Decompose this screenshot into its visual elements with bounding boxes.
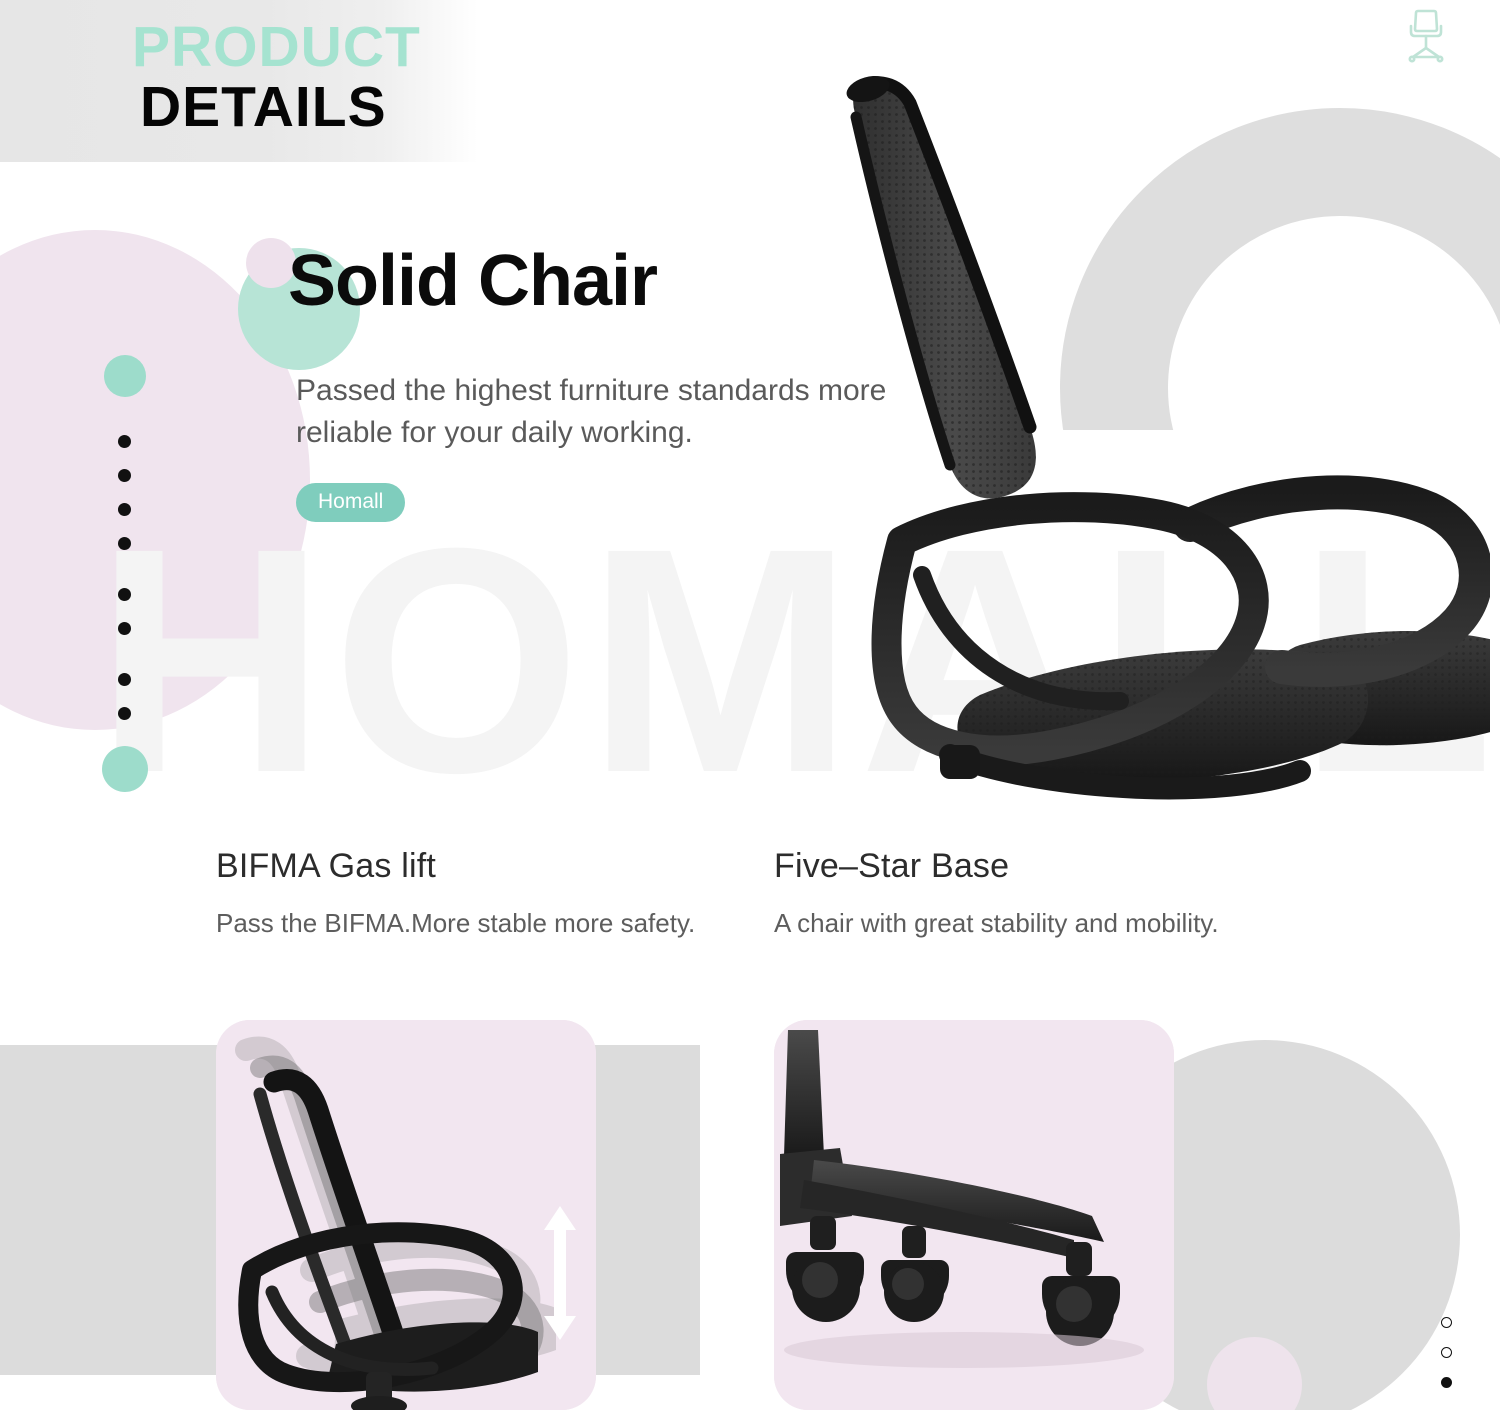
feature-title: BIFMA Gas lift bbox=[216, 845, 736, 888]
rail-dot bbox=[118, 537, 131, 550]
decorative-dot-rail bbox=[100, 355, 160, 792]
hero-chair-image bbox=[830, 55, 1490, 835]
feature-description: Pass the BIFMA.More stable more safety. bbox=[216, 906, 736, 941]
header-line-product: PRODUCT bbox=[132, 18, 421, 78]
feature-image-gas-lift bbox=[216, 1020, 596, 1410]
rail-dot bbox=[118, 469, 131, 482]
feature-image-five-star-base bbox=[774, 1020, 1174, 1410]
page-header: PRODUCT DETAILS bbox=[132, 18, 421, 138]
rail-mint-circle-bottom bbox=[102, 746, 148, 792]
feature-description: A chair with great stability and mobilit… bbox=[774, 906, 1294, 941]
rail-dot bbox=[118, 707, 131, 720]
rail-dot bbox=[118, 588, 131, 601]
feature-five-star-base: Five–Star Base A chair with great stabil… bbox=[774, 845, 1294, 940]
feature-gas-lift: BIFMA Gas lift Pass the BIFMA.More stabl… bbox=[216, 845, 736, 940]
brand-badge: Homall bbox=[296, 483, 405, 522]
rail-dot bbox=[118, 435, 131, 448]
pagination-dot[interactable] bbox=[1441, 1317, 1452, 1328]
rail-mint-circle-top bbox=[104, 355, 146, 397]
product-details-page: HOMALL PRODUCT DETAILS Solid C bbox=[0, 0, 1500, 1410]
rail-dot bbox=[118, 622, 131, 635]
rail-dot bbox=[118, 503, 131, 516]
pagination-dot[interactable] bbox=[1441, 1347, 1452, 1358]
header-line-details: DETAILS bbox=[140, 78, 421, 138]
rail-dot bbox=[118, 673, 131, 686]
pagination-dot-active[interactable] bbox=[1441, 1377, 1452, 1388]
feature-title: Five–Star Base bbox=[774, 845, 1294, 888]
pagination-dots[interactable] bbox=[1441, 1317, 1452, 1388]
